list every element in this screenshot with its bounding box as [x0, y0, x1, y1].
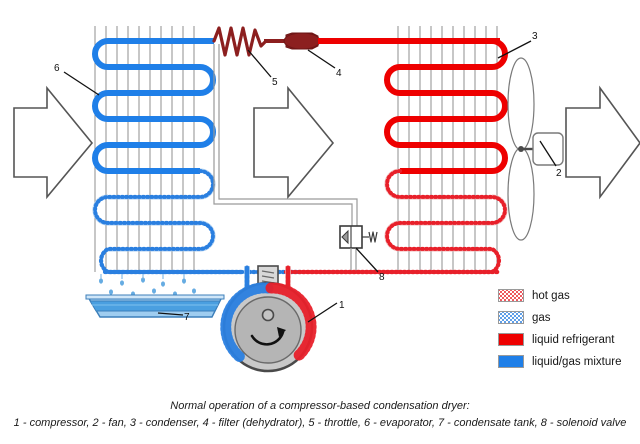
callout-3: 3	[532, 31, 538, 42]
condenser-hot-gas-section	[300, 171, 505, 272]
compressor[interactable]	[224, 266, 312, 371]
caption-line-1: Normal operation of a compressor-based c…	[0, 400, 640, 412]
legend-label-liquid-refrigerant: liquid refrigerant	[532, 334, 614, 346]
legend-item-liquid-gas-mixture: liquid/gas mixture	[498, 352, 638, 371]
legend-label-hot-gas: hot gas	[532, 290, 570, 302]
condensate-droplets	[99, 277, 196, 296]
legend-label-gas: gas	[532, 312, 551, 324]
legend-item-liquid-refrigerant: liquid refrigerant	[498, 330, 638, 349]
fan-blade-lower	[508, 148, 534, 240]
hot-gas-swatch	[498, 289, 524, 302]
callout-7: 7	[184, 312, 190, 323]
evaporator-fins	[95, 26, 194, 272]
fan-motor	[533, 133, 563, 165]
filter-dehydrator-body	[284, 33, 320, 49]
caption-line-2: 1 - compressor, 2 - fan, 3 - condenser, …	[0, 417, 640, 429]
evaporator-gas-section	[95, 171, 300, 272]
callout-6: 6	[54, 63, 60, 74]
condenser-fins	[398, 26, 497, 272]
condenser-hot-gas-tube-outline	[385, 169, 507, 251]
airflow-arrow-outlet	[566, 88, 640, 197]
legend-item-gas: gas	[498, 308, 638, 327]
liquid-gas-mixture-swatch	[498, 355, 524, 368]
legend-item-hot-gas: hot gas	[498, 286, 638, 305]
evaporator-liquid-gas-section	[95, 41, 213, 171]
fan[interactable]	[508, 58, 563, 240]
compressor-shaft	[263, 310, 274, 321]
condensate-streaks	[101, 274, 184, 279]
condensate-tank	[86, 295, 224, 317]
evaporator-gas-tube-outline	[93, 169, 215, 251]
callout-1: 1	[339, 300, 345, 311]
legend: hot gas gas liquid refrigerant liquid/ga…	[498, 286, 638, 374]
callout-2: 2	[556, 168, 562, 179]
diagram-canvas: 6 2 3 4 5 1 7 8 hot gas gas liquid refri…	[0, 0, 640, 444]
callout-4: 4	[336, 68, 342, 79]
legend-label-liquid-gas-mixture: liquid/gas mixture	[532, 356, 621, 368]
callout-8: 8	[379, 272, 385, 283]
airflow-arrow-middle	[254, 88, 333, 197]
dryer-schematic-svg: 6 2 3 4 5 1 7 8	[0, 0, 640, 444]
liquid-refrigerant-swatch	[498, 333, 524, 346]
callout-leaders	[64, 41, 556, 322]
fan-blade-upper	[508, 58, 534, 150]
airflow-arrow-inlet	[14, 88, 92, 197]
throttle-coil	[214, 28, 266, 55]
gas-swatch	[498, 311, 524, 324]
callout-5: 5	[272, 77, 278, 88]
compressor-rotor	[235, 297, 301, 363]
